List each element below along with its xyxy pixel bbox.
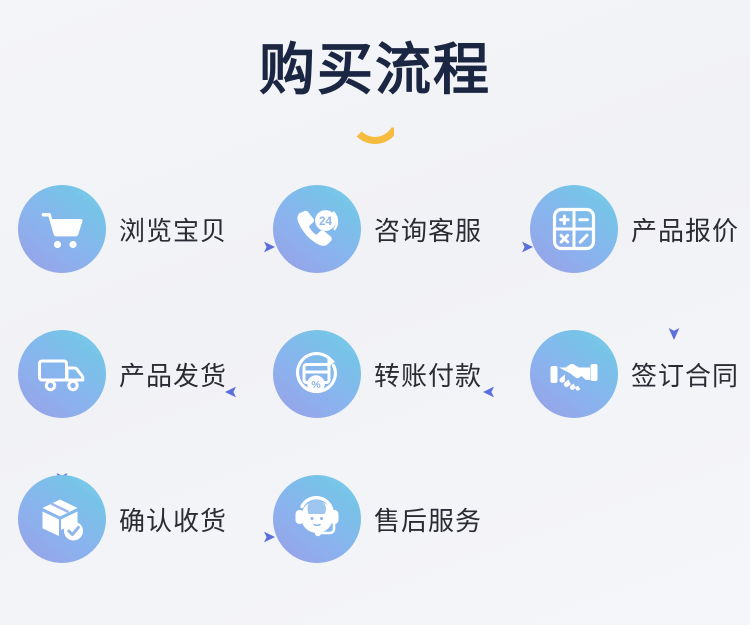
flow-container: 浏览宝贝 24 咨询客服 xyxy=(0,185,750,620)
calculator-icon xyxy=(530,185,618,273)
flow-step-label: 售后服务 xyxy=(374,501,482,538)
flow-row-1: 浏览宝贝 24 咨询客服 xyxy=(0,185,750,330)
arrow-right-icon-r3-1 xyxy=(228,528,276,546)
flow-step-label: 咨询客服 xyxy=(374,211,482,248)
shopping-cart-icon xyxy=(18,185,106,273)
flow-step-after-sales-service[interactable]: 售后服务 xyxy=(273,475,482,563)
title-block: 购买流程 xyxy=(0,42,750,144)
page-title: 购买流程 xyxy=(0,42,750,98)
flow-step-contact-support[interactable]: 24 咨询客服 xyxy=(273,185,482,273)
title-underline-arc xyxy=(349,118,401,144)
payment-transfer-icon: % xyxy=(273,330,361,418)
svg-text:%: % xyxy=(311,379,321,391)
flow-step-product-quotation[interactable]: 产品报价 xyxy=(530,185,739,273)
purchase-process-infographic: 购买流程 浏览宝贝 xyxy=(0,0,750,625)
arrow-right-icon-r1-1 xyxy=(228,238,276,256)
delivery-truck-icon xyxy=(18,330,106,418)
flow-step-transfer-payment[interactable]: % 转账付款 xyxy=(273,330,482,418)
flow-row-3: 确认收货 xyxy=(0,475,750,620)
flow-step-label: 签订合同 xyxy=(631,356,739,393)
flow-step-label: 浏览宝贝 xyxy=(119,211,227,248)
flow-step-browse-products[interactable]: 浏览宝贝 xyxy=(18,185,227,273)
arrow-left-icon-r2-2 xyxy=(482,383,530,401)
arrow-right-icon-r1-2 xyxy=(486,238,534,256)
flow-step-label: 产品报价 xyxy=(631,211,739,248)
handshake-icon xyxy=(530,330,618,418)
headset-support-icon xyxy=(273,475,361,563)
flow-step-product-shipment[interactable]: 产品发货 xyxy=(18,330,227,418)
flow-step-sign-contract[interactable]: 签订合同 xyxy=(530,330,739,418)
package-check-icon xyxy=(18,475,106,563)
flow-step-label: 转账付款 xyxy=(374,356,482,393)
phone-24h-icon: 24 xyxy=(273,185,361,273)
flow-step-confirm-receipt[interactable]: 确认收货 xyxy=(18,475,227,563)
flow-step-label: 产品发货 xyxy=(119,356,227,393)
flow-step-label: 确认收货 xyxy=(119,501,227,538)
flow-row-2: 产品发货 % xyxy=(0,330,750,475)
svg-text:24: 24 xyxy=(319,216,332,228)
arrow-left-icon-r2-1 xyxy=(224,383,272,401)
